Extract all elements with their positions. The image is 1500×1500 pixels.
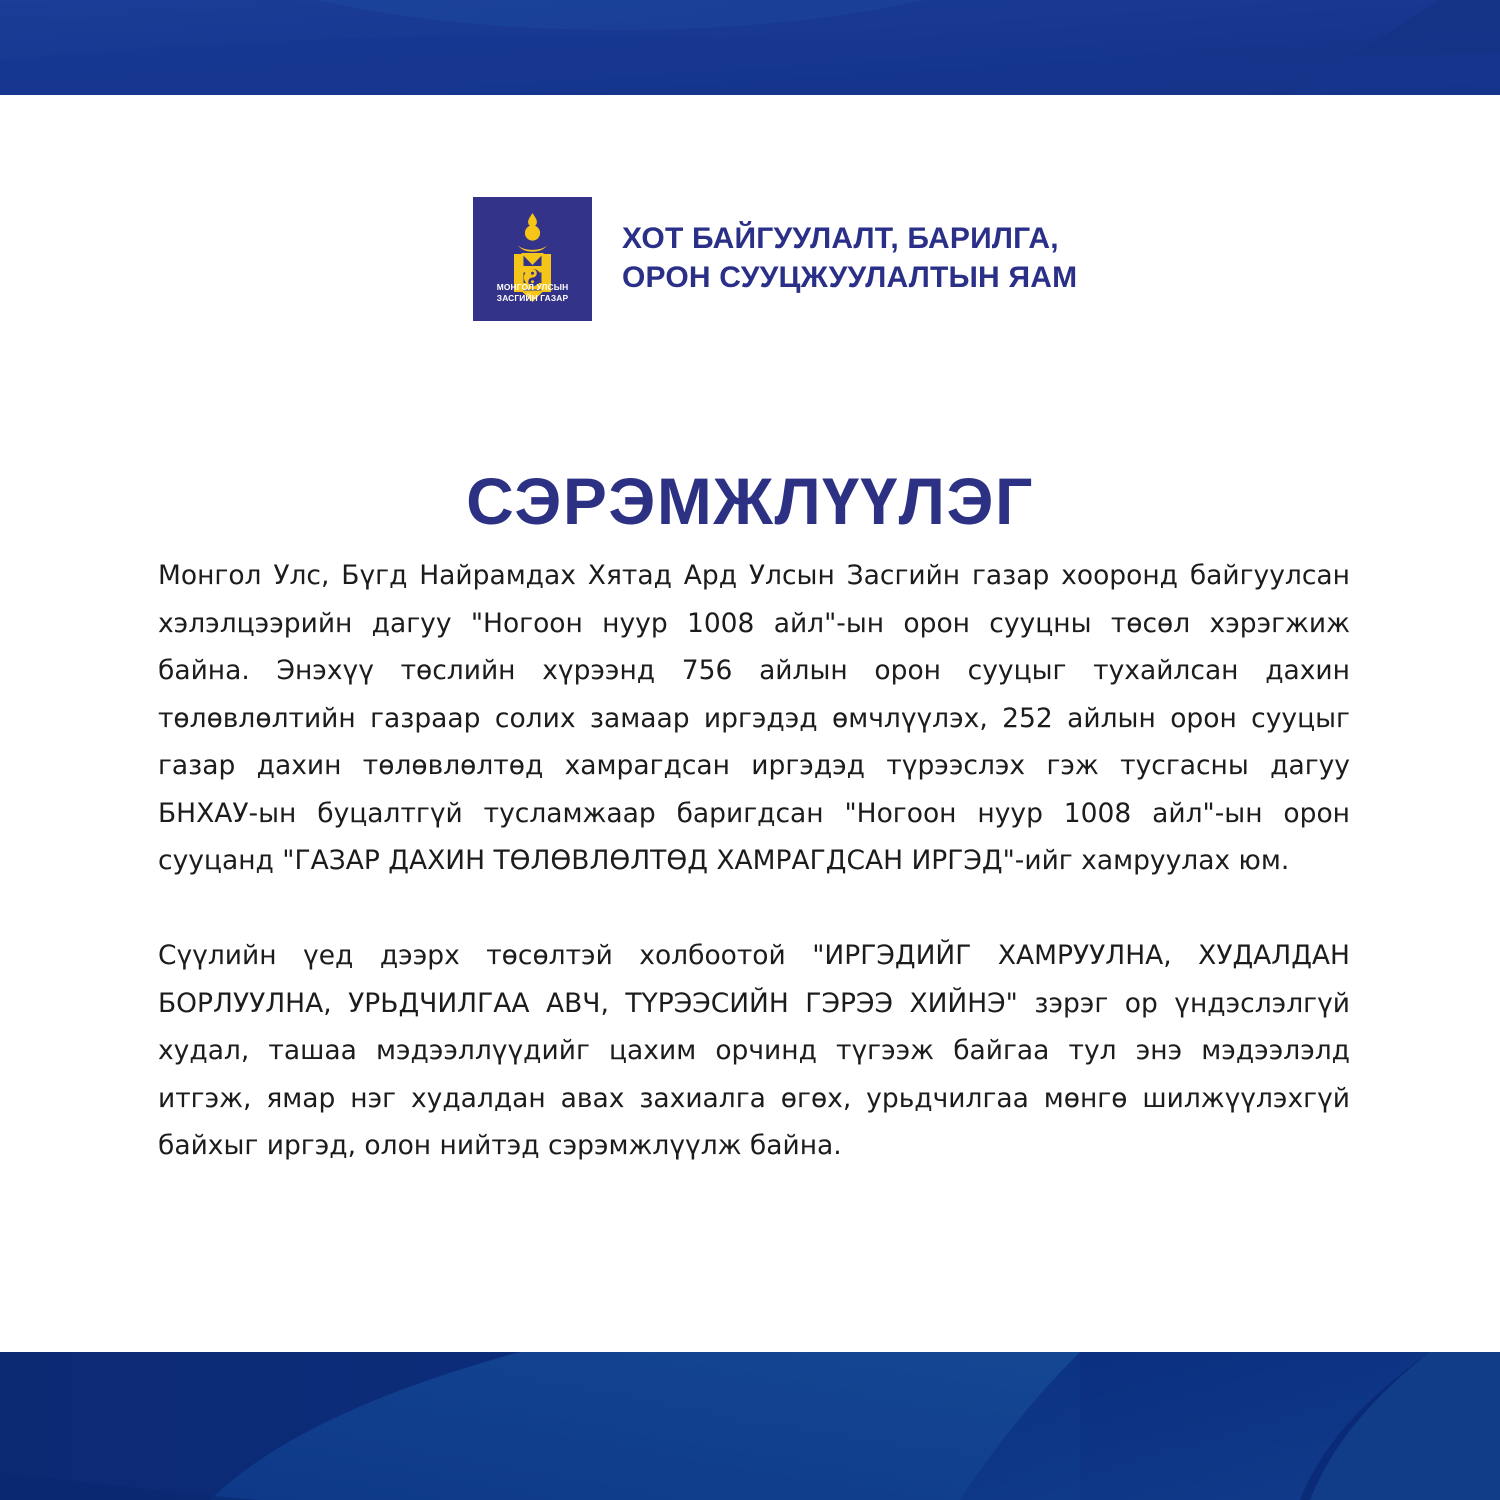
emblem-caption-line-1: МОНГОЛ УЛСЫН — [473, 282, 592, 293]
mongolia-soyombo-emblem-icon: МОНГОЛ УЛСЫН ЗАСГИЙН ГАЗАР — [473, 197, 592, 321]
emblem-caption: МОНГОЛ УЛСЫН ЗАСГИЙН ГАЗАР — [473, 282, 592, 304]
paragraph-1: Монгол Улс, Бүгд Найрамдах Хятад Ард Улс… — [158, 552, 1350, 885]
ministry-header: МОНГОЛ УЛСЫН ЗАСГИЙН ГАЗАР ХОТ БАЙГУУЛАЛ… — [473, 197, 1077, 321]
ministry-name-text: ХОТ БАЙГУУЛАЛТ, БАРИЛГА, ОРОН СУУЦЖУУЛАЛ… — [622, 219, 1077, 299]
announcement-page: МОНГОЛ УЛСЫН ЗАСГИЙН ГАЗАР ХОТ БАЙГУУЛАЛ… — [0, 0, 1500, 1500]
paragraph-2: Сүүлийн үед дээрх төсөлтэй холбоотой "ИР… — [158, 932, 1350, 1170]
announcement-body: Монгол Улс, Бүгд Найрамдах Хятад Ард Улс… — [158, 552, 1350, 1170]
top-decorative-banner — [0, 0, 1500, 95]
page-title: СЭРЭМЖЛҮҮЛЭГ — [0, 462, 1500, 540]
bottom-decorative-banner — [0, 1352, 1500, 1500]
bottom-banner-graphic — [0, 1352, 1500, 1500]
top-banner-graphic — [0, 0, 1500, 95]
emblem-caption-line-2: ЗАСГИЙН ГАЗАР — [473, 293, 592, 304]
